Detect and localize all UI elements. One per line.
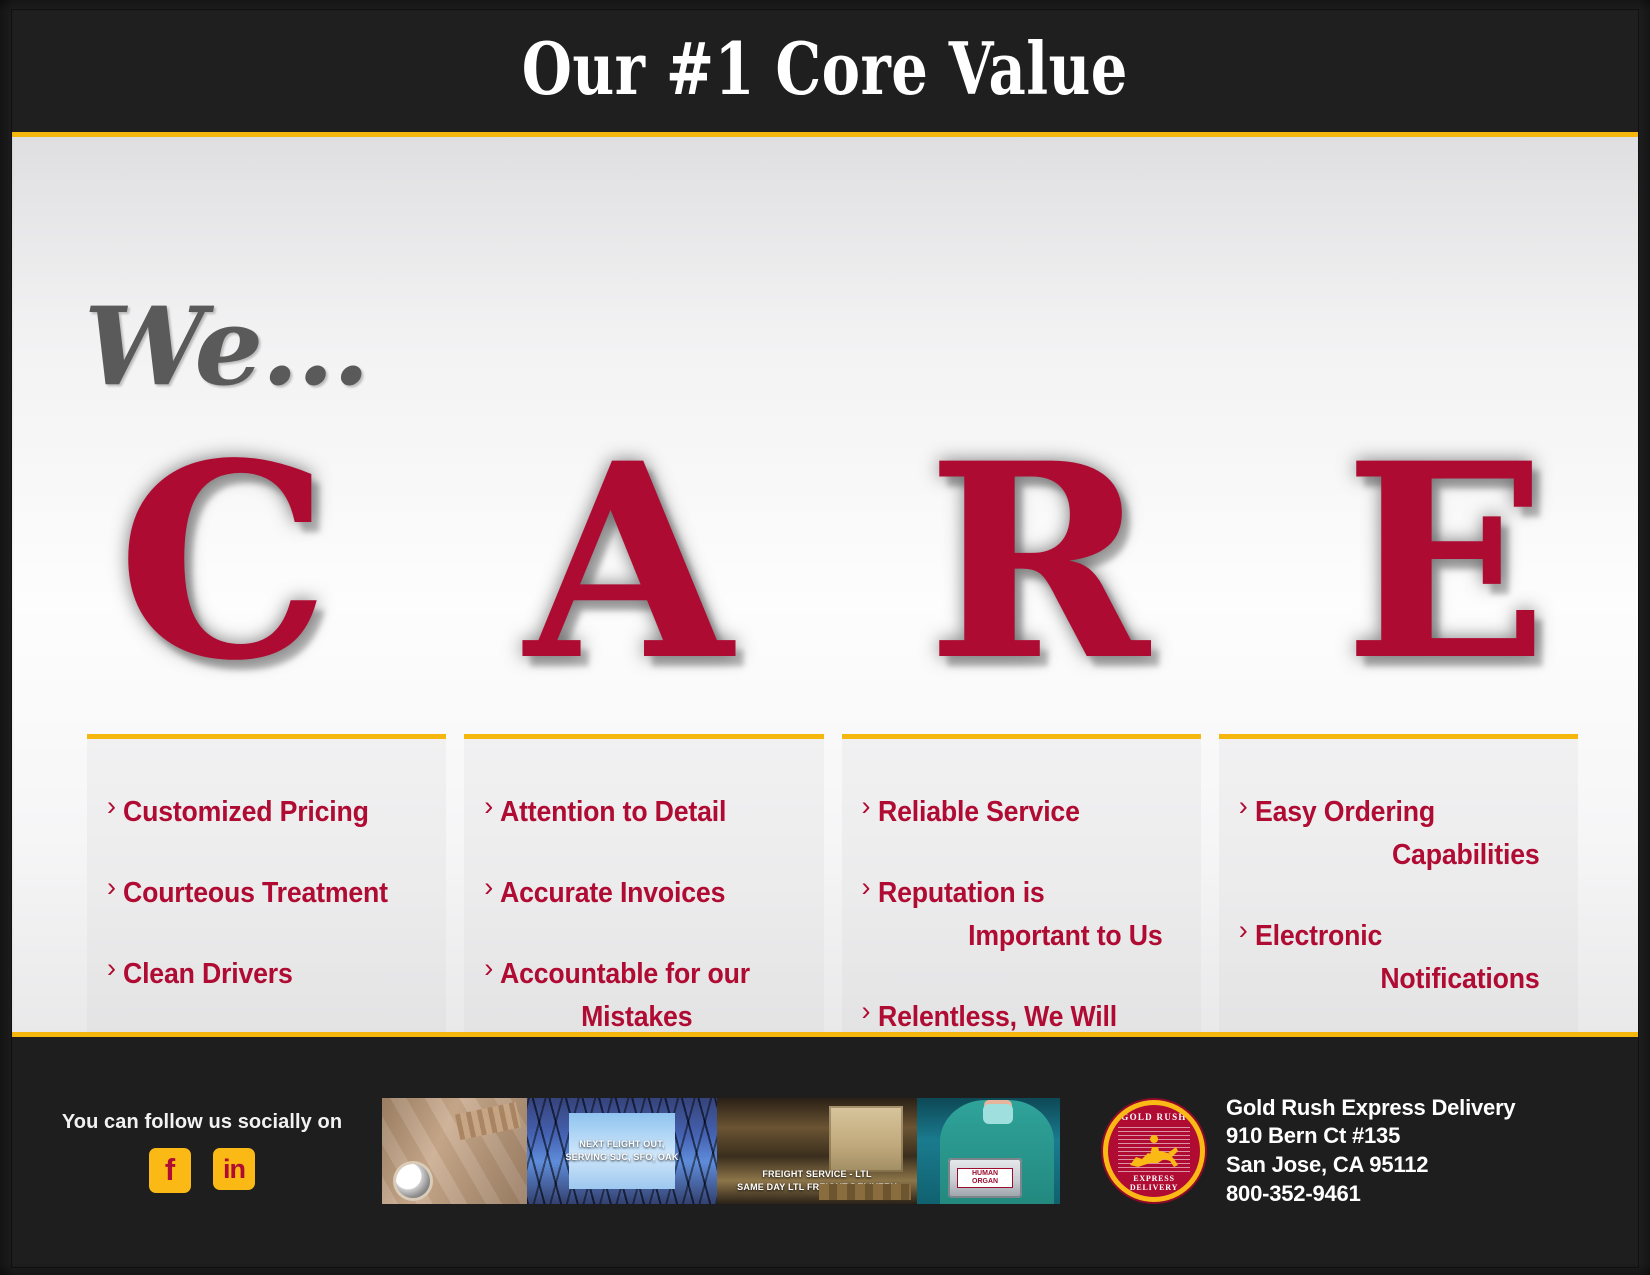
list-item-label: Accountable for our Mistakes bbox=[500, 953, 790, 1032]
chevron-right-icon: › bbox=[484, 954, 493, 982]
social-row: f in bbox=[22, 1148, 382, 1193]
freight-caption: FREIGHT SERVICE - LTL SAME DAY LTL FREIG… bbox=[717, 1168, 917, 1194]
footer-bar: You can follow us socially on f in NEXT … bbox=[12, 1037, 1638, 1261]
chevron-right-icon: › bbox=[1239, 916, 1248, 944]
list-item[interactable]: › Courteous Treatment bbox=[95, 872, 438, 915]
chevron-right-icon: › bbox=[484, 792, 493, 820]
linkedin-icon[interactable]: in bbox=[213, 1148, 255, 1190]
list-item-line1: Easy Ordering bbox=[1255, 791, 1545, 834]
list-item-label: Accurate Invoices bbox=[500, 872, 790, 915]
we-headline: We... bbox=[84, 293, 368, 401]
care-letter-e: E bbox=[1344, 445, 1548, 681]
packages-photo bbox=[382, 1098, 527, 1204]
list-item[interactable]: › Reliable Service bbox=[850, 791, 1193, 834]
list-item-label: Customized Pricing bbox=[123, 791, 413, 834]
medical-courier-photo: HUMAN ORGAN bbox=[917, 1098, 1060, 1204]
list-item-label: Attention to Detail bbox=[500, 791, 790, 834]
list-item-line1: Relentless, We Will bbox=[878, 996, 1168, 1032]
list-item[interactable]: › Clean Drivers bbox=[95, 953, 438, 996]
list-item-line2: Important to Us bbox=[878, 915, 1168, 958]
address-line-3: San Jose, CA 95112 bbox=[1226, 1151, 1515, 1180]
list-item[interactable]: › Electronic Notifications bbox=[1227, 915, 1570, 1001]
list-item-line1: Reputation is bbox=[878, 872, 1168, 915]
column-attention: › Attention to Detail › Accurate Invoice… bbox=[464, 734, 823, 1032]
organ-label: HUMAN ORGAN bbox=[957, 1168, 1013, 1188]
list-item-line2: Mistakes bbox=[500, 996, 790, 1032]
value-columns: › Customized Pricing › Courteous Treatme… bbox=[87, 734, 1578, 1032]
list-item-line2: Notifications bbox=[1255, 958, 1545, 1001]
horse-rider-icon bbox=[1124, 1135, 1184, 1175]
logo-arc-bottom: EXPRESS DELIVERY bbox=[1108, 1174, 1200, 1192]
list-item-label: Reputation is Important to Us bbox=[878, 872, 1168, 958]
page-title: Our #1 Core Value bbox=[522, 33, 1128, 105]
surgical-mask-icon bbox=[983, 1104, 1013, 1124]
list-item-line2: Capabilities bbox=[1255, 834, 1545, 877]
list-item[interactable]: › Easy Ordering Capabilities bbox=[1227, 791, 1570, 877]
poster-sheet: Our #1 Core Value We... C A R E › Custom… bbox=[12, 10, 1638, 1267]
chevron-right-icon: › bbox=[107, 954, 116, 982]
list-item[interactable]: › Customized Pricing bbox=[95, 791, 438, 834]
address-phone: 800-352-9461 bbox=[1226, 1180, 1515, 1209]
care-letter-a: A bbox=[525, 445, 733, 681]
chevron-right-icon: › bbox=[107, 873, 116, 901]
list-item-label: Relentless, We Will Find a Solution bbox=[878, 996, 1168, 1032]
list-item-label: Clean Drivers bbox=[123, 953, 413, 996]
warehouse-freight-photo: FREIGHT SERVICE - LTL SAME DAY LTL FREIG… bbox=[717, 1098, 917, 1204]
care-wordmark: C A R E bbox=[117, 445, 1548, 681]
list-item-label: Easy Ordering Capabilities bbox=[1255, 791, 1545, 877]
list-item-label: Electronic Notifications bbox=[1255, 915, 1545, 1001]
list-item[interactable]: › Attention to Detail bbox=[472, 791, 815, 834]
address-line-1: Gold Rush Express Delivery bbox=[1226, 1094, 1515, 1123]
main-content: We... C A R E › Customized Pricing › Cou… bbox=[12, 137, 1638, 1032]
list-item-line1: Accountable for our bbox=[500, 953, 790, 996]
list-item[interactable]: › Accountable for our Mistakes bbox=[472, 953, 815, 1032]
chevron-right-icon: › bbox=[1239, 792, 1248, 820]
chevron-right-icon: › bbox=[862, 792, 871, 820]
facebook-icon[interactable]: f bbox=[149, 1148, 191, 1193]
gold-rush-logo: GOLD RUSH EXPRESS DELIVERY bbox=[1108, 1105, 1200, 1197]
logo-arc-top: GOLD RUSH bbox=[1108, 1112, 1200, 1122]
address-line-2: 910 Bern Ct #135 bbox=[1226, 1122, 1515, 1151]
list-item[interactable]: › Relentless, We Will Find a Solution bbox=[850, 996, 1193, 1032]
care-letter-c: C bbox=[117, 445, 330, 681]
column-easy-ordering: › Easy Ordering Capabilities › Electroni… bbox=[1219, 734, 1578, 1032]
chevron-right-icon: › bbox=[484, 873, 493, 901]
header-bar: Our #1 Core Value bbox=[12, 10, 1638, 132]
list-item-line1: Electronic bbox=[1255, 915, 1545, 958]
chevron-right-icon: › bbox=[107, 792, 116, 820]
list-item-label: Reliable Service bbox=[878, 791, 1168, 834]
column-reliable: › Reliable Service › Reputation is Impor… bbox=[842, 734, 1201, 1032]
social-label: You can follow us socially on bbox=[22, 1111, 382, 1134]
social-block: You can follow us socially on f in bbox=[12, 1111, 382, 1193]
list-item[interactable]: › Accurate Invoices bbox=[472, 872, 815, 915]
poster-root: Our #1 Core Value We... C A R E › Custom… bbox=[0, 0, 1650, 1275]
photo-strip: NEXT FLIGHT OUT, SERVING SJC, SFO, OAK F… bbox=[382, 1098, 1060, 1204]
chevron-right-icon: › bbox=[862, 997, 871, 1025]
airport-caption: NEXT FLIGHT OUT, SERVING SJC, SFO, OAK bbox=[527, 1138, 717, 1164]
list-item-label: Courteous Treatment bbox=[123, 872, 413, 915]
chevron-right-icon: › bbox=[862, 873, 871, 901]
care-letter-r: R bbox=[927, 445, 1150, 681]
list-item[interactable]: › Reputation is Important to Us bbox=[850, 872, 1193, 958]
brand-block: GOLD RUSH EXPRESS DELIVERY Gold Rush Exp… bbox=[1060, 1094, 1638, 1208]
column-customized: › Customized Pricing › Courteous Treatme… bbox=[87, 734, 446, 1032]
airport-photo: NEXT FLIGHT OUT, SERVING SJC, SFO, OAK bbox=[527, 1098, 717, 1204]
company-address: Gold Rush Express Delivery 910 Bern Ct #… bbox=[1226, 1094, 1515, 1208]
